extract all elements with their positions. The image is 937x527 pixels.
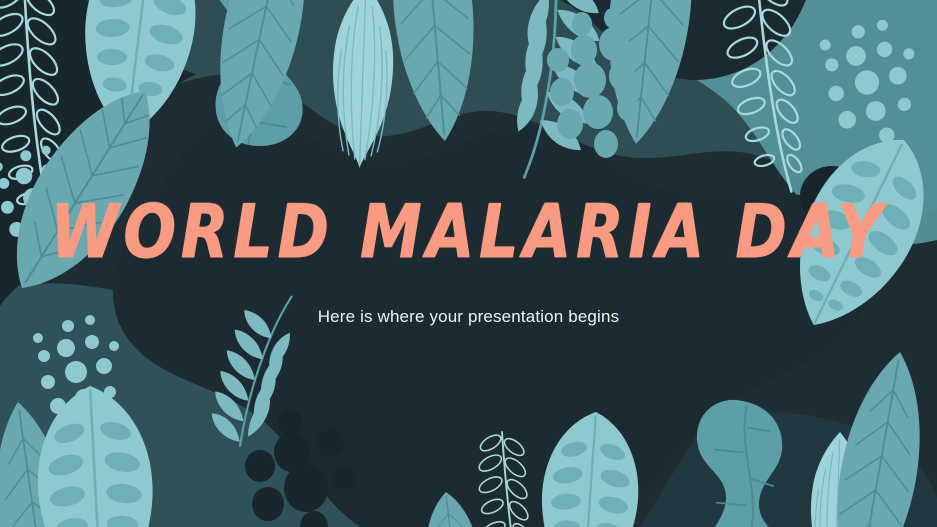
- presentation-slide: WORLD MALARIA DAY Here is where your pre…: [0, 0, 937, 527]
- decorative-background: [0, 0, 937, 527]
